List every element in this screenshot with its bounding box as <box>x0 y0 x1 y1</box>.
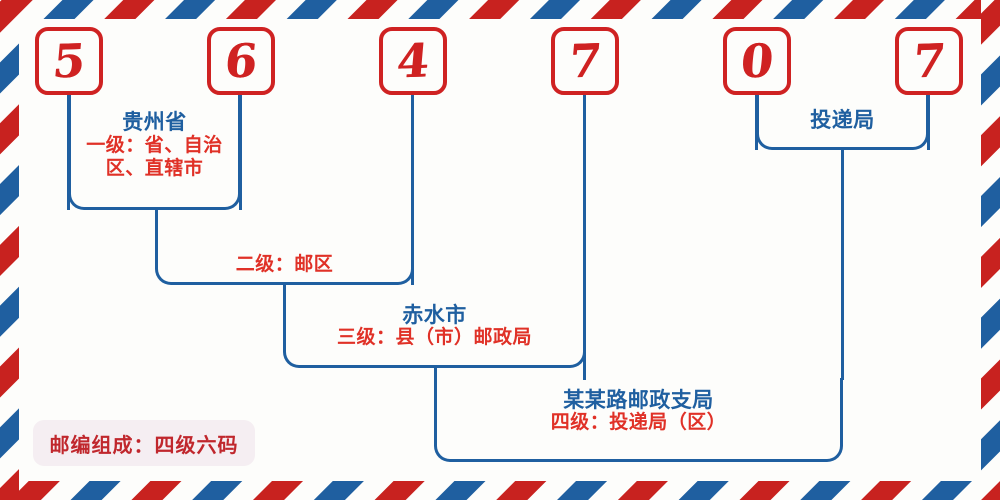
level-1-place-name: 贵州省 <box>68 110 241 134</box>
digit-box-5[interactable]: 0 <box>723 27 791 95</box>
level-3-place-name: 赤水市 <box>284 303 585 327</box>
digit-value-3: 4 <box>395 37 431 84</box>
legend-text: 邮编组成：四级六码 <box>50 429 239 458</box>
level-4-description: 四级：投递局（区） <box>435 412 842 433</box>
digit-box-1[interactable]: 5 <box>35 27 103 95</box>
airmail-border-right <box>981 0 1000 500</box>
postcode-diagram: 5 6 4 7 0 7 投递局 贵州省 一级：省、自治区、直辖市 二级：邮区 赤… <box>0 0 1000 500</box>
level-2-description: 二级：邮区 <box>156 254 413 275</box>
level-3-label-group: 赤水市 三级：县（市）邮政局 <box>284 303 585 348</box>
digit-box-6[interactable]: 7 <box>895 27 963 95</box>
delivery-office-label-group: 投递局 <box>757 108 928 132</box>
digit-box-2[interactable]: 6 <box>207 27 275 95</box>
level-4-place-name: 某某路邮政支局 <box>435 388 842 412</box>
level-1-label-group: 贵州省 一级：省、自治区、直辖市 <box>68 110 241 180</box>
airmail-stripe-pattern-right <box>981 0 1000 500</box>
legend-badge: 邮编组成：四级六码 <box>33 420 255 466</box>
airmail-border-bottom <box>0 481 1000 500</box>
airmail-border-top <box>0 0 1000 19</box>
airmail-stripe-pattern-bottom <box>0 481 1000 500</box>
digit-value-5: 0 <box>739 37 775 84</box>
level-2-label-group: 二级：邮区 <box>156 254 413 275</box>
digit-box-4[interactable]: 7 <box>551 27 619 95</box>
stem-delivery-office <box>841 150 844 380</box>
level-4-label-group: 某某路邮政支局 四级：投递局（区） <box>435 388 842 433</box>
digit-box-3[interactable]: 4 <box>379 27 447 95</box>
level-1-description: 一级：省、自治区、直辖市 <box>68 134 241 180</box>
airmail-stripe-pattern-left <box>0 0 19 500</box>
digit-value-4: 7 <box>567 37 603 84</box>
level-3-description: 三级：县（市）邮政局 <box>284 327 585 348</box>
airmail-stripe-pattern-top <box>0 0 1000 19</box>
digit-value-6: 7 <box>911 37 947 84</box>
airmail-border-left <box>0 0 19 500</box>
delivery-office-label: 投递局 <box>757 108 928 132</box>
digit-value-2: 6 <box>223 37 259 84</box>
digit-value-1: 5 <box>51 37 87 84</box>
